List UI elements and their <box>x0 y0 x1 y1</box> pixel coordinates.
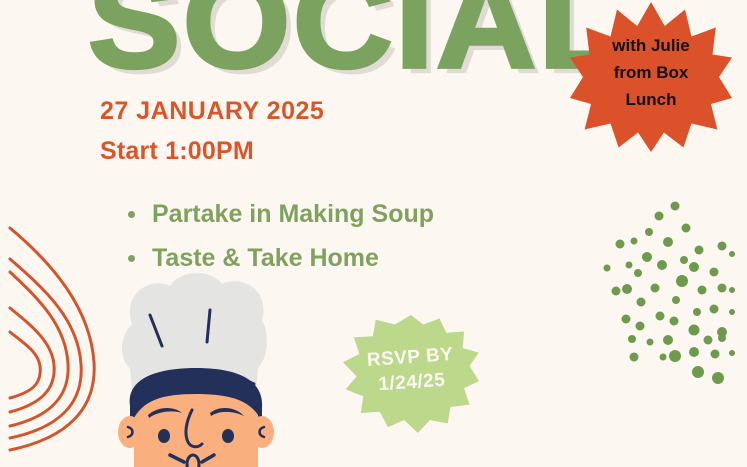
host-badge: with Julie from Box Lunch <box>570 2 732 152</box>
host-badge-line-1: with Julie <box>570 32 732 59</box>
event-details: 27 JANUARY 2025 Start 1:00PM <box>100 96 324 166</box>
page-title: SOCIAL <box>88 0 626 88</box>
rsvp-badge: RSVP BY 1/24/25 <box>343 315 479 433</box>
scattered-dots-decoration-icon <box>596 192 744 398</box>
host-badge-line-3: Lunch <box>570 86 732 113</box>
activities-list: Partake in Making Soup Taste & Take Home <box>124 192 434 280</box>
event-time: Start 1:00PM <box>100 136 324 166</box>
rsvp-badge-text: RSVP BY 1/24/25 <box>341 340 480 399</box>
host-badge-line-2: from Box <box>570 59 732 86</box>
list-item: Partake in Making Soup <box>124 192 434 236</box>
host-badge-text: with Julie from Box Lunch <box>570 32 732 113</box>
event-poster: SOCIAL 27 JANUARY 2025 Start 1:00PM Part… <box>0 0 747 467</box>
event-date: 27 JANUARY 2025 <box>100 96 324 126</box>
chef-character-icon <box>92 272 302 467</box>
